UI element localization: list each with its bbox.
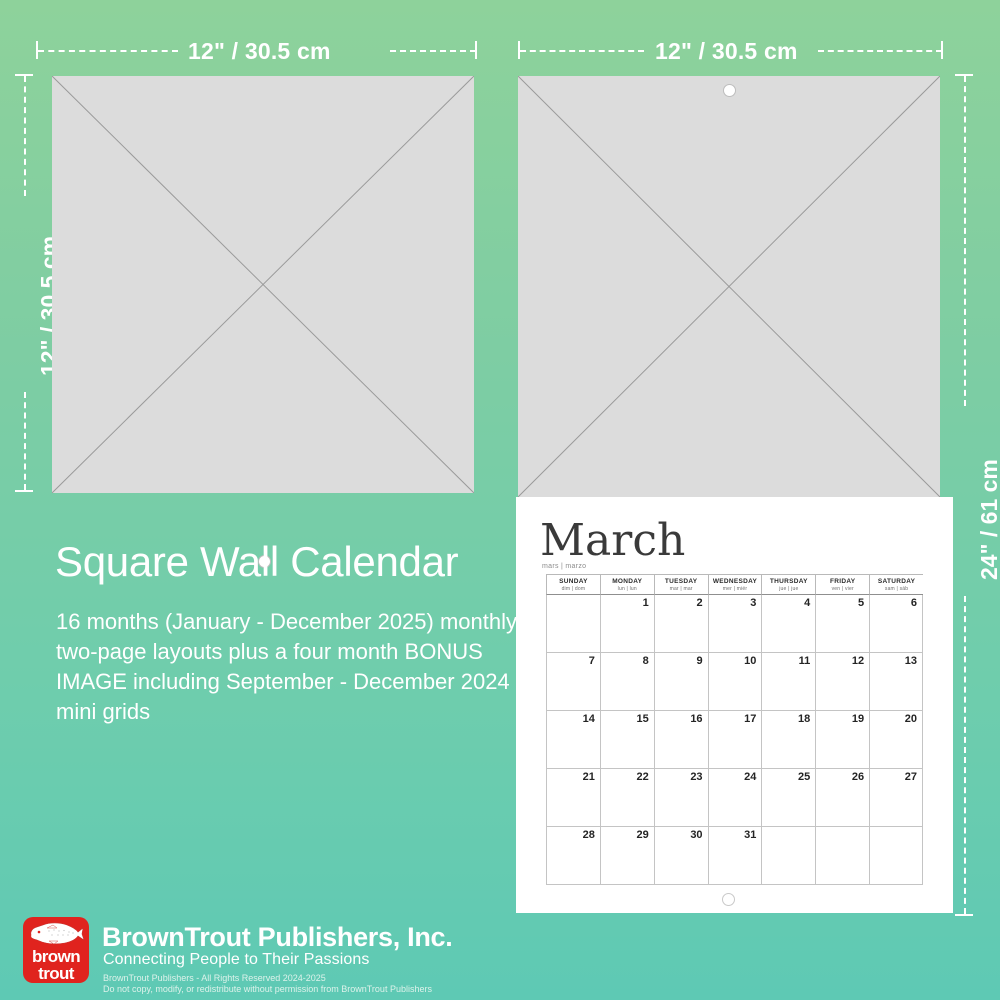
calendar-day-cell[interactable]: 14 [546,711,600,769]
calendar-day-cell[interactable]: 7 [546,653,600,711]
day-header-thursday-alt: jue | jue [762,586,815,592]
day-header-saturday-alt: sam | sáb [870,586,923,592]
day-number: 23 [690,771,702,783]
calendar-month-title: March [540,515,685,566]
panel-diagonal-cross-icon-right [518,76,940,497]
day-header-friday-alt: ven | vier [816,586,869,592]
day-number: 26 [852,771,864,783]
day-header-wednesday-en: WEDNESDAY [709,578,762,585]
day-number: 4 [804,597,810,609]
calendar-day-cell[interactable]: 1 [600,595,654,653]
right-image-panel [518,76,940,497]
day-number: 11 [799,655,811,667]
calendar-grid: SUNDAY dim | dom MONDAY lun | lun TUESDA… [546,574,923,885]
calendar-day-cell[interactable]: 22 [600,769,654,827]
day-number: 10 [744,655,756,667]
day-header-wednesday-alt: mer | miér [709,586,762,592]
day-number: 1 [643,597,649,609]
day-number: 31 [744,829,756,841]
product-promo-canvas: 12" / 30.5 cm 12" / 30.5 cm 12" / 30.5 c… [0,0,1000,1000]
day-header-monday-alt: lun | lun [601,586,654,592]
logo-text-trout: trout [23,965,89,982]
left-image-panel [52,76,474,493]
calendar-day-cell[interactable]: 12 [815,653,869,711]
day-number: 25 [798,771,810,783]
day-number: 19 [852,713,864,725]
calendar-day-cell[interactable]: 20 [869,711,923,769]
day-header-wednesday: WEDNESDAY mer | miér [708,574,762,595]
calendar-day-cell[interactable]: 16 [654,711,708,769]
calendar-day-cell[interactable] [761,827,815,885]
calendar-day-cell[interactable]: 27 [869,769,923,827]
browntrout-logo: brown trout [23,917,89,983]
day-number: 29 [636,829,648,841]
day-number: 13 [905,655,917,667]
hole-punch-calendar-page [722,893,735,906]
calendar-day-cell[interactable]: 31 [708,827,762,885]
calendar-day-cell[interactable]: 24 [708,769,762,827]
day-number: 18 [798,713,810,725]
day-header-saturday: SATURDAY sam | sáb [869,574,923,595]
day-number: 8 [643,655,649,667]
day-header-tuesday-en: TUESDAY [655,578,708,585]
day-header-monday: MONDAY lun | lun [600,574,654,595]
calendar-day-cell[interactable]: 21 [546,769,600,827]
trout-fish-icon [27,921,85,947]
day-number: 24 [744,771,756,783]
day-number: 9 [696,655,702,667]
day-header-sunday-en: SUNDAY [547,578,600,585]
panel-diagonal-cross-icon [52,76,474,493]
day-header-friday: FRIDAY ven | vier [815,574,869,595]
calendar-day-cell[interactable]: 2 [654,595,708,653]
calendar-month-translations: mars | marzo [542,563,586,570]
calendar-day-cell[interactable]: 3 [708,595,762,653]
day-number: 2 [696,597,702,609]
day-number: 17 [744,713,756,725]
legal-line-2: Do not copy, modify, or redistribute wit… [103,983,432,995]
day-number: 21 [583,771,595,783]
calendar-day-cell[interactable] [869,827,923,885]
day-header-friday-en: FRIDAY [816,578,869,585]
day-header-tuesday: TUESDAY mar | mar [654,574,708,595]
calendar-day-cell[interactable]: 6 [869,595,923,653]
calendar-page: March mars | marzo SUNDAY dim | dom MOND… [516,497,953,913]
calendar-day-cell[interactable] [815,827,869,885]
calendar-day-cell[interactable]: 10 [708,653,762,711]
calendar-day-cell[interactable]: 11 [761,653,815,711]
logo-text-brown: brown [23,948,89,965]
day-number: 14 [583,713,595,725]
calendar-day-cell[interactable]: 26 [815,769,869,827]
calendar-day-cell[interactable]: 29 [600,827,654,885]
day-number: 6 [911,597,917,609]
day-header-monday-en: MONDAY [601,578,654,585]
day-number: 7 [589,655,595,667]
product-description: 16 months (January - December 2025) mont… [56,607,526,727]
day-number: 5 [858,597,864,609]
day-number: 3 [750,597,756,609]
day-header-thursday-en: THURSDAY [762,578,815,585]
day-number: 27 [905,771,917,783]
day-number: 22 [636,771,648,783]
product-headline: Square Wall Calendar [55,538,458,586]
company-tagline: Connecting People to Their Passions [103,951,369,969]
calendar-day-cell[interactable]: 19 [815,711,869,769]
day-number: 30 [690,829,702,841]
left-width-label: 12" / 30.5 cm [188,38,331,65]
day-number: 12 [852,655,864,667]
day-number: 16 [690,713,702,725]
hole-punch-right-panel [723,84,736,97]
calendar-day-cell[interactable]: 17 [708,711,762,769]
calendar-day-cell[interactable]: 15 [600,711,654,769]
calendar-day-cell[interactable]: 13 [869,653,923,711]
day-header-thursday: THURSDAY jue | jue [761,574,815,595]
calendar-day-cell[interactable] [546,595,600,653]
calendar-day-cell[interactable]: 30 [654,827,708,885]
calendar-day-cell[interactable]: 4 [761,595,815,653]
calendar-day-cell[interactable]: 28 [546,827,600,885]
calendar-day-cell[interactable]: 5 [815,595,869,653]
day-header-sunday-alt: dim | dom [547,586,600,592]
day-header-sunday: SUNDAY dim | dom [546,574,600,595]
calendar-day-cell[interactable]: 23 [654,769,708,827]
company-name: BrownTrout Publishers, Inc. [102,922,452,953]
day-number: 28 [583,829,595,841]
day-header-saturday-en: SATURDAY [870,578,923,585]
day-number: 20 [905,713,917,725]
calendar-day-cell[interactable]: 8 [600,653,654,711]
right-width-label: 12" / 30.5 cm [655,38,798,65]
day-number: 15 [636,713,648,725]
day-header-tuesday-alt: mar | mar [655,586,708,592]
calendar-day-cell[interactable]: 18 [761,711,815,769]
calendar-day-cell[interactable]: 25 [761,769,815,827]
right-total-height-label: 24" / 61 cm [976,459,1000,580]
calendar-day-cell[interactable]: 9 [654,653,708,711]
